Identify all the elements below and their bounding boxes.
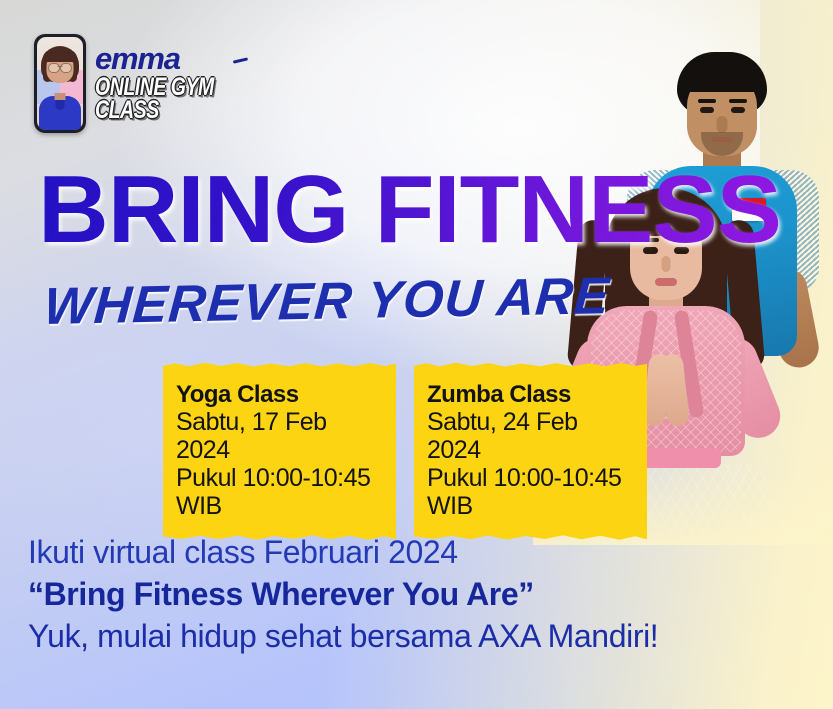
avatar-glasses-left bbox=[48, 63, 60, 73]
class-card-zumba[interactable]: Zumba Class Sabtu, 24 Feb 2024 Pukul 10:… bbox=[414, 368, 647, 535]
page-title: BRING FITNESS bbox=[38, 163, 781, 256]
avatar-glasses-bridge bbox=[58, 66, 63, 67]
tagline-line-2: CLASS bbox=[95, 99, 214, 122]
class-date: Sabtu, 24 Feb 2024 bbox=[427, 408, 634, 464]
emma-arrow-bar-icon bbox=[233, 57, 248, 64]
avatar-glasses-right bbox=[60, 63, 72, 73]
online-gym-class-tagline: ONLINE GYM CLASS bbox=[95, 76, 247, 123]
class-title: Zumba Class bbox=[427, 382, 634, 407]
male-mouth bbox=[711, 137, 733, 142]
phone-frame bbox=[34, 34, 86, 133]
copy-line-1: Ikuti virtual class Februari 2024 bbox=[28, 531, 658, 573]
male-eye-right bbox=[731, 107, 745, 113]
class-schedule-cards: Yoga Class Sabtu, 17 Feb 2024 Pukul 10:0… bbox=[163, 368, 647, 535]
emma-avatar bbox=[37, 37, 83, 130]
logo-text-block: emma ONLINE GYM CLASS bbox=[95, 34, 247, 123]
male-brow-right bbox=[729, 99, 747, 103]
avatar-neck bbox=[55, 93, 66, 100]
copy-line-3: Yuk, mulai hidup sehat bersama AXA Mandi… bbox=[28, 615, 658, 657]
class-card-yoga[interactable]: Yoga Class Sabtu, 17 Feb 2024 Pukul 10:0… bbox=[163, 368, 396, 535]
page-subtitle: WHEREVER YOU ARE bbox=[42, 266, 612, 337]
emma-logo: emma ONLINE GYM CLASS bbox=[34, 34, 247, 133]
class-title: Yoga Class bbox=[176, 382, 383, 407]
female-lips bbox=[655, 278, 677, 286]
avatar-neckline bbox=[56, 99, 65, 110]
promo-poster: emma ONLINE GYM CLASS BRING FITNESS WHER… bbox=[0, 0, 833, 709]
class-date: Sabtu, 17 Feb 2024 bbox=[176, 408, 383, 464]
male-brow-left bbox=[698, 99, 716, 103]
emma-wordmark: emma bbox=[95, 43, 247, 74]
male-eye-left bbox=[700, 107, 714, 113]
class-time: Pukul 10:00-10:45 WIB bbox=[427, 464, 634, 520]
class-time: Pukul 10:00-10:45 WIB bbox=[176, 464, 383, 520]
male-fringe bbox=[679, 66, 765, 92]
promo-copy: Ikuti virtual class Februari 2024 “Bring… bbox=[28, 531, 658, 658]
emma-wordmark-text: emma bbox=[95, 41, 180, 76]
copy-line-2: “Bring Fitness Wherever You Are” bbox=[28, 573, 658, 615]
male-nose bbox=[717, 116, 728, 133]
avatar-fringe bbox=[43, 50, 77, 62]
